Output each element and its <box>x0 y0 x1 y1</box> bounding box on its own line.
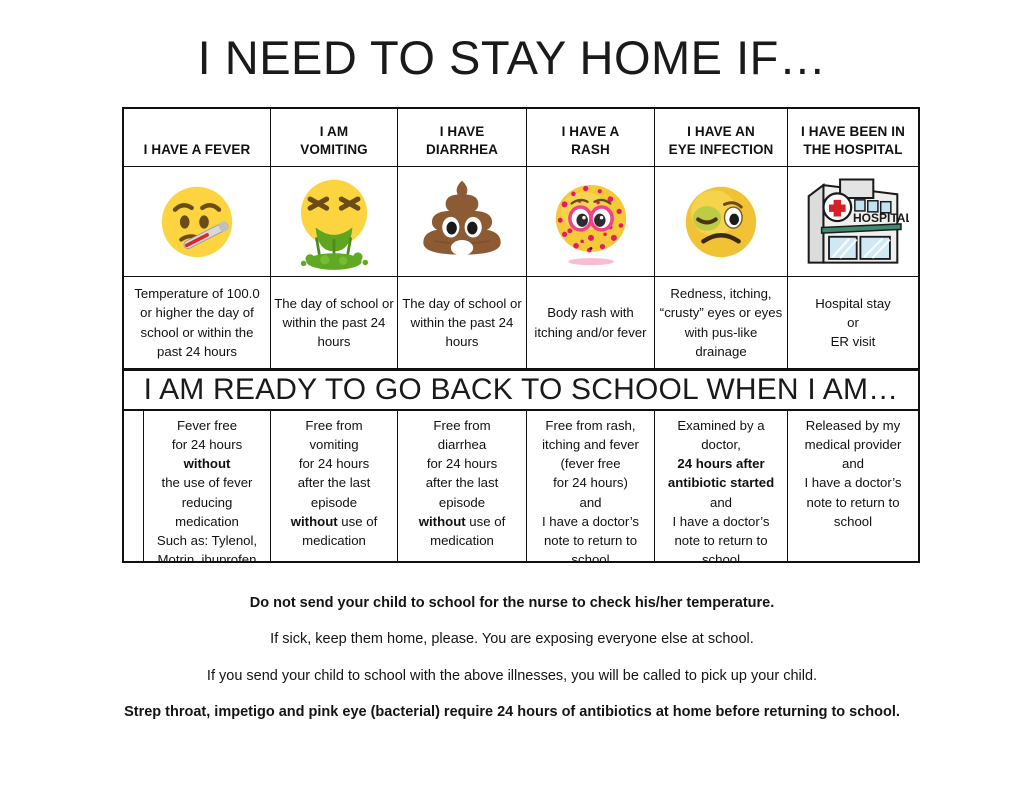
criteria-cell-vomiting: Free fromvomitingfor 24 hoursafter the l… <box>271 411 398 561</box>
description-text: The day of school or within the past 24 … <box>274 294 394 351</box>
description-cell-hospital: Hospital stay or ER visit <box>788 277 918 369</box>
description-row: Temperature of 100.0 or higher the day o… <box>124 277 918 369</box>
description-text: Redness, itching, “crusty” eyes or eyes … <box>658 284 784 361</box>
description-text: Body rash with itching and/or fever <box>530 303 651 341</box>
pile-of-poo-emoji <box>419 176 505 268</box>
return-banner-text: I AM READY TO GO BACK TO SCHOOL WHEN I A… <box>144 373 899 407</box>
header-label: I HAVE BEEN IN THE HOSPITAL <box>801 123 905 159</box>
header-label: I AM VOMITING <box>300 123 368 159</box>
criteria-cell-eye-infection: Examined by adoctor,24 hours afterantibi… <box>655 411 788 561</box>
page-title: I NEED TO STAY HOME IF… <box>0 30 1024 85</box>
criteria-text: Free fromdiarrheafor 24 hoursafter the l… <box>419 416 505 550</box>
description-text: Temperature of 100.0 or higher the day o… <box>127 284 267 361</box>
icon-cell-eye-infection <box>655 167 788 277</box>
rash-face-emoji <box>547 175 635 269</box>
header-label: I HAVE A FEVER <box>144 141 251 159</box>
return-criteria-row: Fever freefor 24 hourswithoutthe use of … <box>122 411 920 563</box>
header-cell-eye-infection: I HAVE AN EYE INFECTION <box>655 109 788 167</box>
return-banner: I AM READY TO GO BACK TO SCHOOL WHEN I A… <box>122 369 920 411</box>
icon-cell-diarrhea <box>398 167 527 277</box>
description-text: Hospital stay or ER visit <box>815 294 891 351</box>
criteria-text: Released by mymedical providerandI have … <box>804 416 901 531</box>
svg-text:HOSPITAL: HOSPITAL <box>853 211 909 225</box>
icon-cell-rash <box>527 167 655 277</box>
header-cell-fever: I HAVE A FEVER <box>124 109 271 167</box>
icon-cell-vomiting <box>271 167 398 277</box>
footer-line-2: If sick, keep them home, please. You are… <box>0 631 1024 648</box>
header-row: I HAVE A FEVER I AM VOMITING I HAVE DIAR… <box>124 109 918 167</box>
icon-cell-fever <box>124 167 271 277</box>
footer-line-1: Do not send your child to school for the… <box>0 595 1024 612</box>
face-with-thermometer-emoji <box>153 178 241 266</box>
icon-cell-hospital: HOSPITAL <box>788 167 918 277</box>
criteria-cell-fever: Fever freefor 24 hourswithoutthe use of … <box>144 411 271 561</box>
footer-line-3: If you send your child to school with th… <box>0 668 1024 685</box>
description-cell-rash: Body rash with itching and/or fever <box>527 277 655 369</box>
header-cell-diarrhea: I HAVE DIARRHEA <box>398 109 527 167</box>
header-label: I HAVE AN EYE INFECTION <box>669 123 774 159</box>
header-label: I HAVE A RASH <box>562 123 620 159</box>
header-cell-rash: I HAVE A RASH <box>527 109 655 167</box>
criteria-text: Free from rash,itching and fever(fever f… <box>542 416 639 561</box>
description-cell-eye-infection: Redness, itching, “crusty” eyes or eyes … <box>655 277 788 369</box>
header-label: I HAVE DIARRHEA <box>426 123 498 159</box>
description-cell-fever: Temperature of 100.0 or higher the day o… <box>124 277 271 369</box>
description-cell-vomiting: The day of school or within the past 24 … <box>271 277 398 369</box>
criteria-text: Free fromvomitingfor 24 hoursafter the l… <box>291 416 377 550</box>
criteria-cell-diarrhea: Free fromdiarrheafor 24 hoursafter the l… <box>398 411 527 561</box>
spacer-cell <box>124 411 144 561</box>
header-cell-hospital: I HAVE BEEN IN THE HOSPITAL <box>788 109 918 167</box>
criteria-text: Examined by adoctor,24 hours afterantibi… <box>668 416 774 561</box>
criteria-text: Fever freefor 24 hourswithoutthe use of … <box>157 416 257 561</box>
illness-chart: I HAVE A FEVER I AM VOMITING I HAVE DIAR… <box>122 107 920 563</box>
vomiting-face-emoji <box>288 174 380 270</box>
chart-top-grid: I HAVE A FEVER I AM VOMITING I HAVE DIAR… <box>122 107 920 369</box>
flyer-page: I NEED TO STAY HOME IF… I HAVE A FEVER I… <box>0 0 1024 791</box>
criteria-cell-hospital: Released by mymedical providerandI have … <box>788 411 918 561</box>
hospital-building-icon: HOSPITAL <box>797 174 909 270</box>
footer-notes: Do not send your child to school for the… <box>0 595 1024 741</box>
footer-line-4: Strep throat, impetigo and pink eye (bac… <box>0 704 1024 721</box>
header-cell-vomiting: I AM VOMITING <box>271 109 398 167</box>
icon-row: HOSPITAL <box>124 167 918 277</box>
criteria-cell-rash: Free from rash,itching and fever(fever f… <box>527 411 655 561</box>
infected-eye-face-emoji <box>677 178 765 266</box>
description-cell-diarrhea: The day of school or within the past 24 … <box>398 277 527 369</box>
description-text: The day of school or within the past 24 … <box>401 294 523 351</box>
